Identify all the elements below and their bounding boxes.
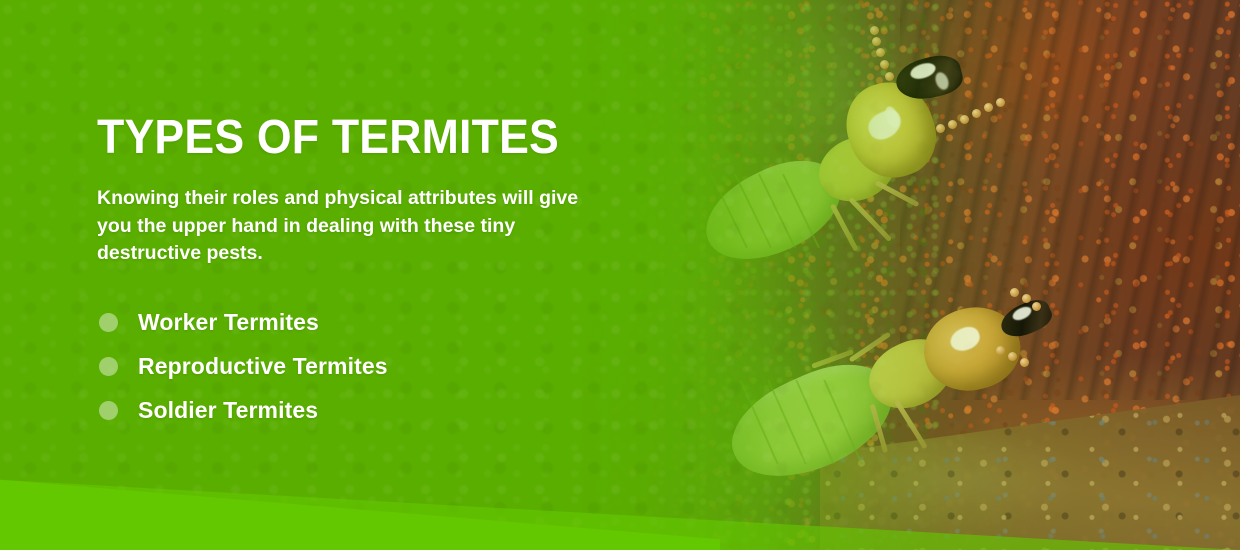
list-item-label: Worker Termites xyxy=(138,309,319,336)
bullet-dot-icon xyxy=(99,357,118,376)
bullet-dot-icon xyxy=(99,313,118,332)
types-of-termites-banner: TYPES OF TERMITES Knowing their roles an… xyxy=(0,0,1240,550)
page-title: TYPES OF TERMITES xyxy=(97,114,618,163)
termite-types-list: Worker Termites Reproductive Termites So… xyxy=(97,300,657,432)
list-item[interactable]: Soldier Termites xyxy=(97,388,657,432)
bullet-dot-icon xyxy=(99,401,118,420)
banner-subtext: Knowing their roles and physical attribu… xyxy=(97,185,592,268)
list-item[interactable]: Reproductive Termites xyxy=(97,344,657,388)
list-item[interactable]: Worker Termites xyxy=(97,300,657,344)
list-item-label: Reproductive Termites xyxy=(138,353,388,380)
list-item-label: Soldier Termites xyxy=(138,397,318,424)
banner-content: TYPES OF TERMITES Knowing their roles an… xyxy=(97,114,657,432)
